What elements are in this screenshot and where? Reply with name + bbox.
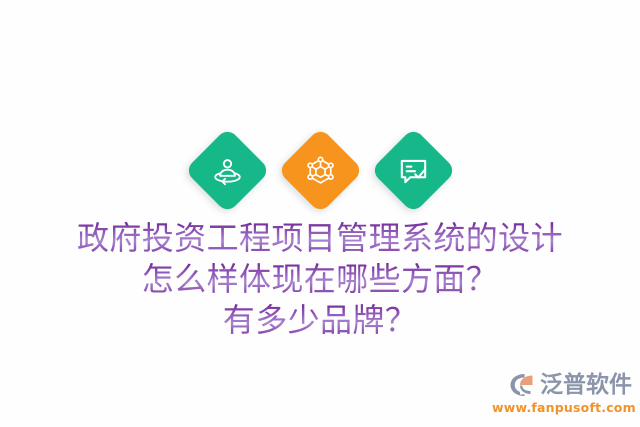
icon-row bbox=[0, 127, 640, 213]
icon-tile-user-orbit[interactable] bbox=[184, 127, 270, 213]
brand-watermark: 泛普软件 www.fanpusoft.com bbox=[492, 371, 632, 415]
hexagon-network-icon bbox=[303, 153, 337, 187]
fanpu-logo-icon bbox=[508, 372, 536, 398]
headline-line-3: 有多少品牌？ bbox=[0, 300, 640, 341]
brand-url: www.fanpusoft.com bbox=[492, 400, 632, 415]
page-canvas: 政府投资工程项目管理系统的设计 怎么样体现在哪些方面？ 有多少品牌？ 泛普软件 … bbox=[0, 0, 640, 427]
user-orbit-icon bbox=[210, 153, 244, 187]
icon-tile-hex-network[interactable] bbox=[277, 127, 363, 213]
headline-block: 政府投资工程项目管理系统的设计 怎么样体现在哪些方面？ 有多少品牌？ bbox=[0, 218, 640, 341]
brand-name: 泛普软件 bbox=[540, 372, 632, 398]
brand-logo-row: 泛普软件 bbox=[492, 371, 632, 399]
headline-line-2: 怎么样体现在哪些方面？ bbox=[0, 259, 640, 300]
headline-line-1: 政府投资工程项目管理系统的设计 bbox=[0, 218, 640, 259]
message-check-icon bbox=[396, 153, 430, 187]
icon-tile-message-check[interactable] bbox=[370, 127, 456, 213]
